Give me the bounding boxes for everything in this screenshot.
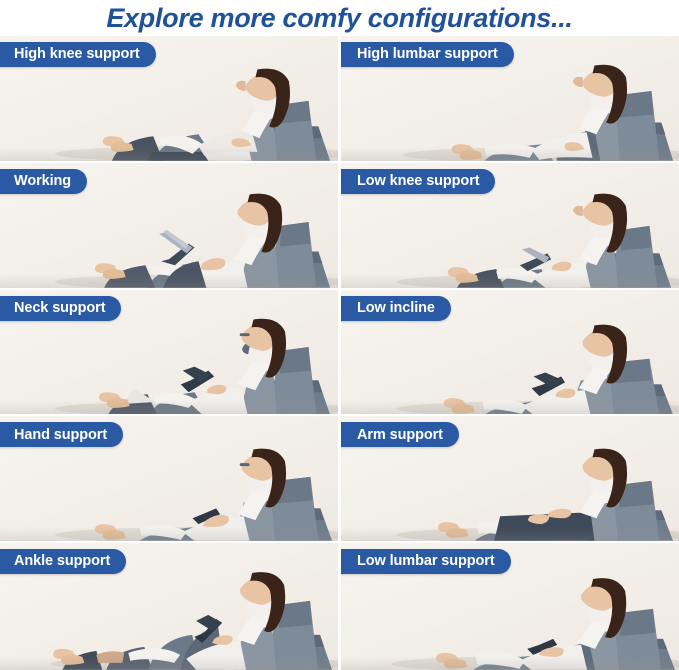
label-badge-ankle-support[interactable]: Ankle support xyxy=(0,549,126,574)
badge-label: High lumbar support xyxy=(357,47,498,62)
floor-shadow xyxy=(341,527,679,541)
floor-shadow xyxy=(0,527,338,541)
config-cell-hand-support[interactable]: Hand support xyxy=(0,416,338,543)
badge-label: Neck support xyxy=(14,301,105,316)
page-title: Explore more comfy configurations... xyxy=(106,3,572,34)
badge-label: Low knee support xyxy=(357,174,479,189)
floor-shadow xyxy=(0,274,338,288)
label-badge-high-lumbar-support[interactable]: High lumbar support xyxy=(338,42,514,67)
header-banner: Explore more comfy configurations... xyxy=(0,0,679,36)
label-badge-high-knee-support[interactable]: High knee support xyxy=(0,42,156,67)
label-badge-arm-support[interactable]: Arm support xyxy=(338,422,459,447)
label-badge-hand-support[interactable]: Hand support xyxy=(0,422,123,447)
label-badge-low-knee-support[interactable]: Low knee support xyxy=(338,169,495,194)
badge-label: High knee support xyxy=(14,47,140,62)
config-cell-low-incline[interactable]: Low incline xyxy=(338,290,679,417)
badge-label: Low incline xyxy=(357,301,435,316)
config-cell-high-lumbar-support[interactable]: High lumbar support xyxy=(338,36,679,163)
badge-label: Low lumbar support xyxy=(357,554,495,569)
config-cell-low-lumbar-support[interactable]: Low lumbar support xyxy=(338,543,679,670)
badge-label: Arm support xyxy=(357,428,443,443)
label-badge-low-incline[interactable]: Low incline xyxy=(338,296,451,321)
floor-shadow xyxy=(341,147,679,161)
config-cell-neck-support[interactable]: Neck support xyxy=(0,290,338,417)
config-cell-high-knee-support[interactable]: High knee support xyxy=(0,36,338,163)
floor-shadow xyxy=(0,656,338,670)
config-cell-working[interactable]: Working xyxy=(0,163,338,290)
label-badge-working[interactable]: Working xyxy=(0,169,87,194)
badge-label: Ankle support xyxy=(14,554,110,569)
product-feature-image: Explore more comfy configurations... xyxy=(0,0,679,670)
label-badge-neck-support[interactable]: Neck support xyxy=(0,296,121,321)
floor-shadow xyxy=(341,274,679,288)
label-badge-low-lumbar-support[interactable]: Low lumbar support xyxy=(338,549,511,574)
badge-label: Working xyxy=(14,174,71,189)
config-cell-arm-support[interactable]: Arm support xyxy=(338,416,679,543)
configuration-grid: High knee support xyxy=(0,36,679,670)
floor-shadow xyxy=(0,400,338,414)
floor-shadow xyxy=(341,656,679,670)
floor-shadow xyxy=(0,147,338,161)
config-cell-ankle-support[interactable]: Ankle support xyxy=(0,543,338,670)
badge-label: Hand support xyxy=(14,428,107,443)
floor-shadow xyxy=(341,400,679,414)
config-cell-low-knee-support[interactable]: Low knee support xyxy=(338,163,679,290)
